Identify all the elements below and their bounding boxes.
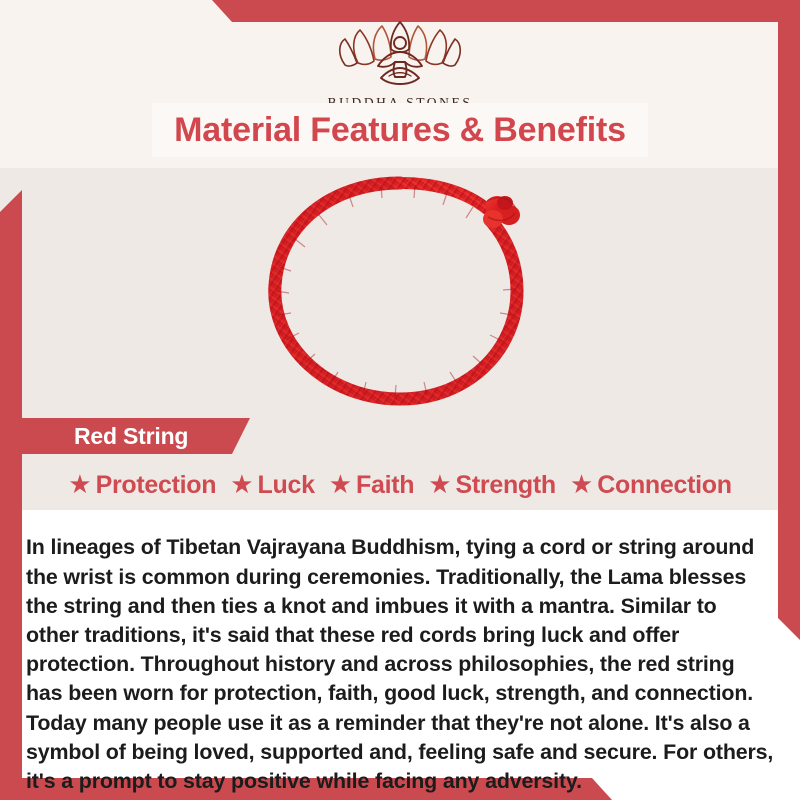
star-icon: ★ — [428, 471, 451, 497]
page-title: Material Features & Benefits — [174, 111, 626, 150]
feature-item: ★Protection — [63, 471, 221, 500]
star-icon: ★ — [68, 471, 91, 497]
star-icon: ★ — [570, 471, 593, 497]
feature-item: ★Strength — [423, 471, 561, 500]
feature-label: Faith — [356, 471, 414, 500]
feature-label: Strength — [456, 471, 556, 500]
feature-label: Protection — [96, 471, 217, 500]
product-image-area — [0, 168, 800, 418]
product-tag-label: Red String — [74, 423, 188, 450]
red-braided-string-bracelet-icon — [235, 167, 565, 420]
lotus-meditation-icon — [325, 16, 475, 93]
feature-item: ★Luck — [225, 471, 319, 500]
star-icon: ★ — [230, 471, 253, 497]
feature-label: Connection — [597, 471, 732, 500]
feature-item: ★Faith — [324, 471, 420, 500]
feature-item: ★Connection — [565, 471, 737, 500]
star-icon: ★ — [329, 471, 352, 497]
feature-list: ★Protection★Luck★Faith★Strength★Connecti… — [22, 462, 778, 508]
title-banner: Material Features & Benefits — [152, 103, 648, 157]
description-text: In lineages of Tibetan Vajrayana Buddhis… — [26, 533, 774, 796]
product-tag-banner: Red String — [22, 418, 250, 454]
feature-label: Luck — [258, 471, 315, 500]
infographic-page: BUDDHA STONES Material Features & Benefi… — [0, 0, 800, 800]
brand-logo: BUDDHA STONES — [0, 16, 800, 111]
